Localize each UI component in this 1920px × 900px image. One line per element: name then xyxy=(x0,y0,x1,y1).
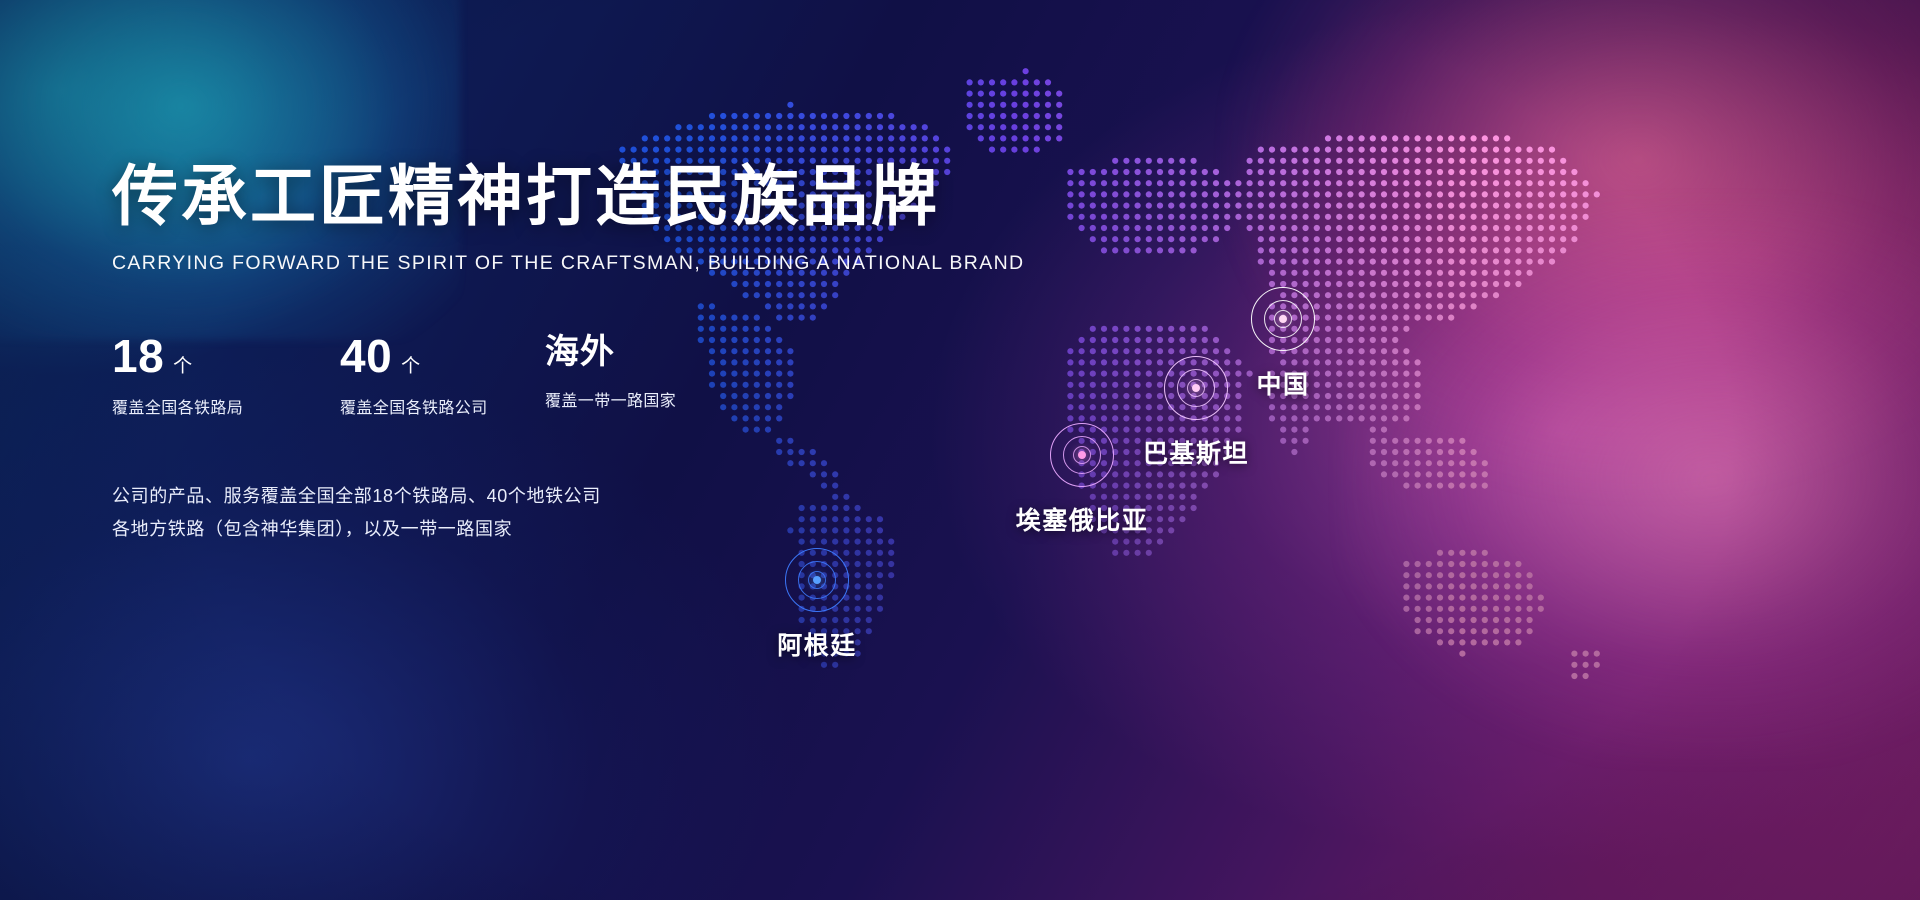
marker-center-dot xyxy=(813,576,821,584)
marker-label-1: 中国 xyxy=(1256,365,1309,401)
description-line-1: 公司的产品、服务覆盖全国全部18个铁路局、40个地铁公司 xyxy=(112,480,972,513)
banner-content: 传承工匠精神打造民族品牌 CARRYING FORWARD THE SPIRIT… xyxy=(112,160,972,547)
marker-label-2: 巴基斯坦 xyxy=(1143,434,1249,470)
marker-label-3: 埃塞俄比亚 xyxy=(1016,501,1149,537)
banner-stage: 中国巴基斯坦埃塞俄比亚阿根廷 传承工匠精神打造民族品牌 CARRYING FOR… xyxy=(0,0,1920,900)
stat-caption-1: 覆盖全国各铁路局 xyxy=(112,394,340,418)
marker-center-dot xyxy=(1279,315,1287,323)
page-subtitle: CARRYING FORWARD THE SPIRIT OF THE CRAFT… xyxy=(112,252,972,275)
stat-block-3: 海外 覆盖一带一路国家 xyxy=(545,333,676,418)
marker-center-dot xyxy=(1078,451,1086,459)
stat-caption-2: 覆盖全国各铁路公司 xyxy=(340,394,545,418)
stat-value-1: 18 个 xyxy=(112,333,340,379)
marker-center-dot xyxy=(1192,384,1200,392)
description-line-2: 各地方铁路（包含神华集团），以及一带一路国家 xyxy=(112,513,972,546)
stat-value-2: 40 个 xyxy=(340,333,545,379)
stat-unit-1: 个 xyxy=(173,357,192,376)
stat-block-1: 18 个 覆盖全国各铁路局 xyxy=(112,333,340,418)
description-paragraph: 公司的产品、服务覆盖全国全部18个铁路局、40个地铁公司 各地方铁路（包含神华集… xyxy=(112,480,972,547)
stat-number-2: 40 xyxy=(340,333,392,379)
stat-unit-2: 个 xyxy=(401,357,420,376)
stat-number-3: 海外 xyxy=(545,333,615,372)
marker-label-4: 阿根廷 xyxy=(777,626,857,662)
stats-row: 18 个 覆盖全国各铁路局 40 个 覆盖全国各铁路公司 海外 覆盖一带一路国家 xyxy=(112,333,972,418)
stat-value-3: 海外 xyxy=(545,333,676,372)
page-title: 传承工匠精神打造民族品牌 xyxy=(112,160,972,234)
stat-number-1: 18 xyxy=(112,333,164,379)
stat-caption-3: 覆盖一带一路国家 xyxy=(545,387,676,411)
stat-block-2: 40 个 覆盖全国各铁路公司 xyxy=(340,333,545,418)
